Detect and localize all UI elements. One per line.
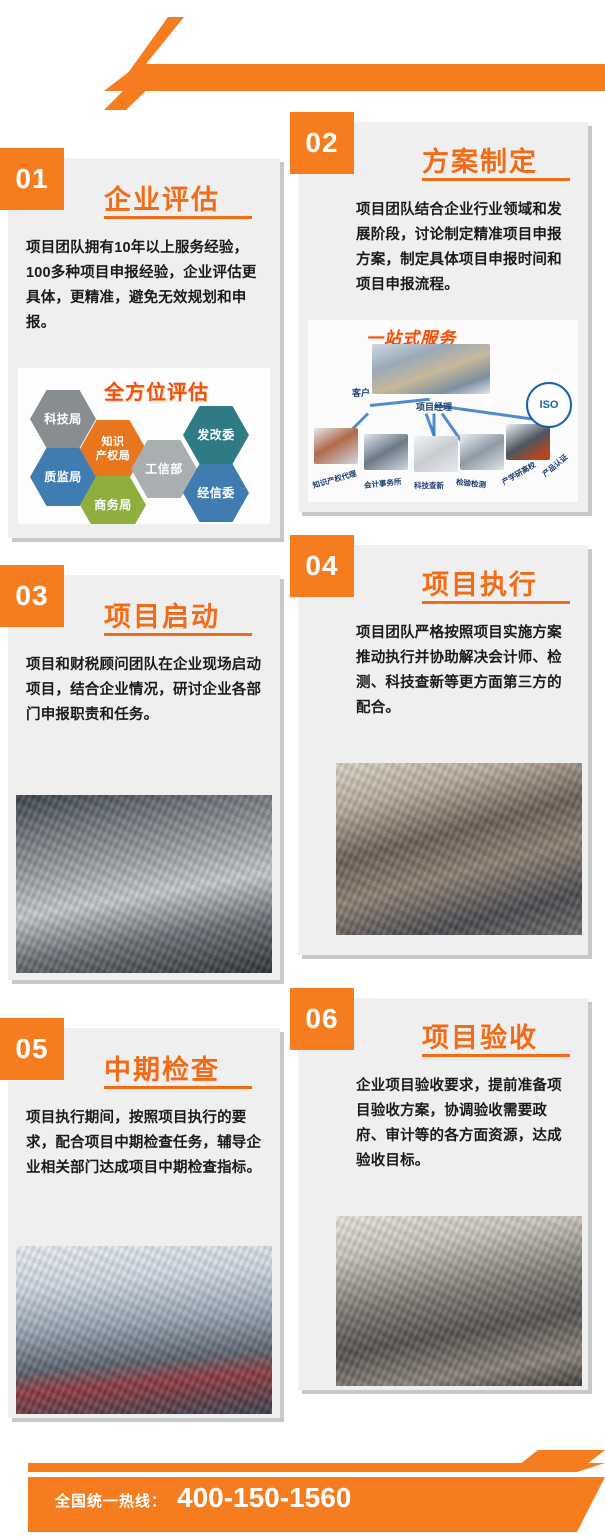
title-underline: [422, 178, 570, 181]
step-description: 项目和财税顾问团队在企业现场启动项目，结合企业情况，研讨企业各部门申报职责和任务…: [26, 653, 262, 728]
step-title: 中期检查: [104, 1048, 220, 1087]
title-underline: [422, 601, 570, 604]
step-card-04: 04 项目执行 项目团队严格按照项目实施方案推动执行并协助解决会计师、检测、科技…: [298, 545, 588, 955]
page-title: 服务流程: [228, 22, 352, 60]
title-underline: [104, 633, 252, 636]
step-description: 项目执行期间，按照项目执行的要求，配合项目中期检查任务，辅导企业相关部门达成项目…: [26, 1106, 262, 1181]
step-title: 方案制定: [422, 140, 538, 179]
step-title: 项目验收: [422, 1016, 538, 1055]
hotline-label: 全国统一热线：: [55, 1490, 167, 1511]
service-label: 知识产权代理: [311, 468, 357, 491]
photo-texture: [336, 763, 582, 935]
footer-accent-line: [28, 1463, 605, 1472]
step-photo: [16, 1246, 272, 1414]
hex-node-fagai: 发改委: [183, 406, 249, 464]
service-label: 产学研高校: [500, 459, 538, 487]
step-description: 项目团队严格按照项目实施方案推动执行并协助解决会计师、检测、科技查新等更方面第三…: [356, 621, 574, 721]
step-number-badge: 02: [290, 112, 354, 174]
title-underline: [104, 1086, 252, 1089]
step-title: 项目执行: [422, 563, 538, 602]
service-node: [364, 434, 408, 470]
page-footer: 全国统一热线： 400-150-1560: [0, 1420, 605, 1538]
service-label: 科技查新: [414, 480, 444, 491]
step-number-badge: 04: [290, 535, 354, 597]
service-label: 检验检测: [456, 476, 487, 490]
service-flow-infographic: 服务流程 Service flow 01 企业评估 项目团队拥有10年以上服务经…: [0, 0, 605, 1538]
one-stop-client-label: 客户: [352, 386, 370, 399]
service-node: [460, 434, 504, 470]
service-node: [506, 424, 550, 460]
step-photo: [336, 763, 582, 935]
service-node: [414, 436, 458, 472]
step-number-badge: 01: [0, 148, 64, 210]
step-card-03: 03 项目启动 项目和财税顾问团队在企业现场启动项目，结合企业情况，研讨企业各部…: [8, 575, 280, 980]
step-photo: [16, 795, 272, 973]
one-stop-diagram: 一站式服务 客户 项目经理 ISO 知识产权代理 会计事务所 科技查新 检验检测…: [308, 320, 578, 502]
one-stop-center-photo: [372, 344, 490, 394]
step-number-badge: 03: [0, 565, 64, 627]
step-card-01: 01 企业评估 项目团队拥有10年以上服务经验，100多种项目申报经验，企业评估…: [8, 158, 280, 538]
hex-diagram-title: 全方位评估: [104, 376, 209, 405]
title-underline: [422, 1054, 570, 1057]
page-header: 服务流程 Service flow: [0, 0, 605, 108]
hex-diagram: 全方位评估 科技局 知识产权局 发改委 质监局 工信部 商务局 经信委: [18, 368, 270, 524]
photo-texture: [16, 1246, 272, 1414]
service-node: [314, 428, 358, 464]
header-wedge: [104, 88, 164, 110]
photo-texture: [336, 1216, 582, 1386]
title-underline: [104, 216, 252, 219]
header-band-primary: [118, 17, 605, 87]
iso-certification-badge: ISO: [526, 382, 572, 428]
step-description: 企业项目验收要求，提前准备项目验收方案，协调验收需要政府、审计等的各方面资源，达…: [356, 1074, 574, 1174]
photo-texture: [16, 795, 272, 973]
page-subtitle: Service flow: [372, 31, 476, 59]
step-number-badge: 06: [290, 988, 354, 1050]
step-description: 项目团队拥有10年以上服务经验，100多种项目申报经验，企业评估更具体，更精准，…: [26, 236, 262, 336]
step-card-02: 02 方案制定 项目团队结合企业行业领域和发展阶段，讨论制定精准项目申报方案，制…: [298, 122, 588, 512]
step-photo: [336, 1216, 582, 1386]
hotline-phone[interactable]: 400-150-1560: [177, 1482, 351, 1514]
step-card-06: 06 项目验收 企业项目验收要求，提前准备项目验收方案，协调验收需要政府、审计等…: [298, 998, 588, 1390]
step-title: 企业评估: [104, 178, 220, 217]
step-number-badge: 05: [0, 1018, 64, 1080]
step-description: 项目团队结合企业行业领域和发展阶段，讨论制定精准项目申报方案，制定具体项目申报时…: [356, 198, 574, 298]
one-stop-center-label: 项目经理: [416, 400, 452, 413]
hex-node-label: 知识产权局: [96, 435, 131, 463]
step-title: 项目启动: [104, 595, 220, 634]
service-label: 会计事务所: [364, 476, 402, 491]
step-card-05: 05 中期检查 项目执行期间，按照项目执行的要求，配合项目中期检查任务，辅导企业…: [8, 1028, 280, 1418]
